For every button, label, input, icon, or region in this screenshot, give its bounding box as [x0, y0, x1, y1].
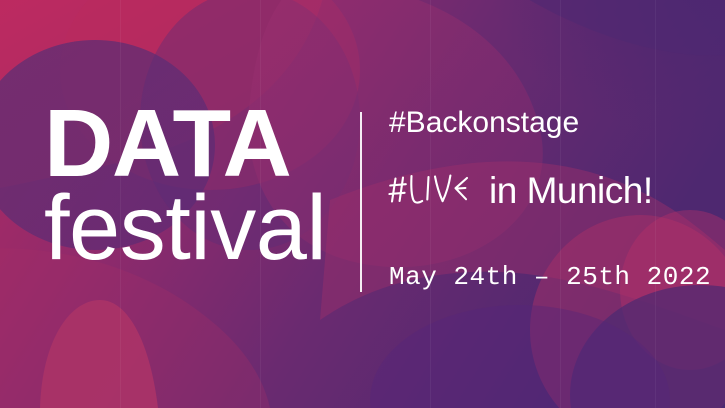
brand-lockup: DATA festival	[44, 100, 344, 274]
event-dates: May 24th – 25th 2022	[389, 262, 711, 292]
wordmark-data: DATA	[44, 100, 344, 188]
event-info: #Backonstage	[389, 106, 709, 209]
live-location-line: in Munich!	[389, 161, 709, 209]
hashtag-live-icon	[389, 168, 487, 210]
event-banner: DATA festival #Backonstage	[0, 0, 725, 408]
vertical-divider	[360, 112, 362, 292]
hashtag-backonstage: #Backonstage	[389, 106, 709, 141]
city-label: in Munich!	[489, 172, 653, 209]
wordmark-festival: festival	[44, 182, 344, 274]
